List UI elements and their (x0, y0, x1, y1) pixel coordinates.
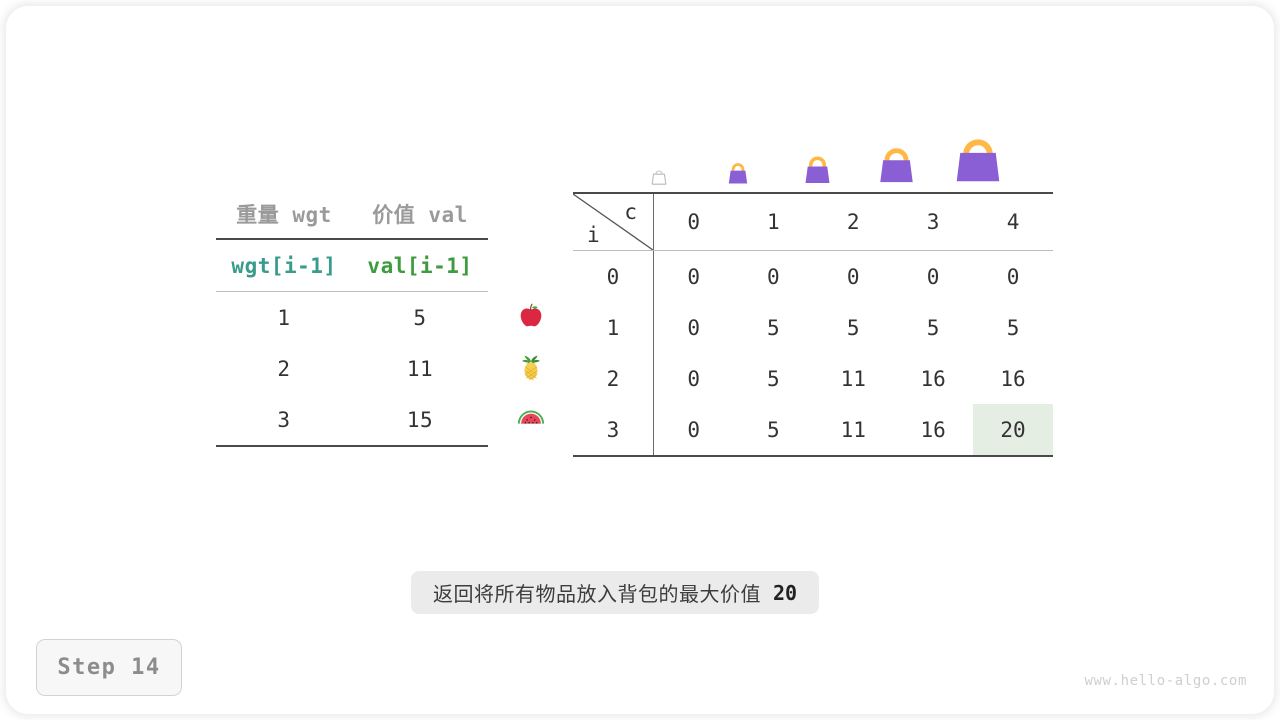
dp-cell-1-1: 5 (733, 302, 813, 353)
table-row: 0 0 0 0 0 0 (573, 251, 1053, 303)
item-wgt-2: 2 (216, 357, 352, 381)
dp-cell-0-4: 0 (973, 251, 1053, 303)
dp-cell-2-1: 5 (733, 353, 813, 404)
bag-icon-empty (648, 166, 670, 190)
item-table: 重量 wgt 价值 val wgt[i-1] val[i-1] 1 5 2 11… (216, 190, 488, 447)
dp-axis-label-i: i (587, 223, 600, 247)
item-wgt-1: 1 (216, 306, 352, 330)
bag-icon-3 (873, 144, 920, 190)
dp-cell-1-4: 5 (973, 302, 1053, 353)
dp-cell-0-2: 0 (813, 251, 893, 303)
apple-icon (506, 296, 556, 347)
step-badge: Step 14 (36, 639, 182, 696)
dp-col-header-3: 3 (893, 193, 973, 251)
item-table-subheader-wgt: wgt[i-1] (216, 254, 352, 278)
fruit-icon-column (506, 296, 556, 449)
item-table-subheader-val: val[i-1] (352, 254, 488, 278)
dp-cell-0-1: 0 (733, 251, 813, 303)
bag-icon-4 (949, 134, 1007, 190)
dp-table: i c 0 1 2 3 4 0 0 0 0 0 0 (573, 192, 1053, 457)
dp-row-header-1: 1 (573, 302, 654, 353)
dp-row-header-2: 2 (573, 353, 654, 404)
dp-axis-label-c: c (624, 200, 637, 224)
dp-corner-cell: i c (573, 193, 654, 251)
dp-cell-3-3: 16 (893, 404, 973, 456)
dp-cell-0-3: 0 (893, 251, 973, 303)
item-val-2: 11 (352, 357, 488, 381)
dp-col-header-1: 1 (733, 193, 813, 251)
dp-cell-2-2: 11 (813, 353, 893, 404)
item-table-header-wgt: 重量 wgt (216, 199, 352, 229)
table-row: 2 11 (216, 343, 488, 394)
pineapple-icon (506, 347, 556, 398)
dp-cell-3-1: 5 (733, 404, 813, 456)
item-wgt-3: 3 (216, 408, 352, 432)
dp-cell-2-3: 16 (893, 353, 973, 404)
item-table-header-val: 价值 val (352, 199, 488, 229)
dp-cell-3-4-highlighted: 20 (973, 404, 1053, 456)
dp-cell-0-0: 0 (654, 251, 734, 303)
caption-text: 返回将所有物品放入背包的最大价值 (433, 578, 761, 607)
dp-col-header-0: 0 (654, 193, 734, 251)
dp-cell-2-4: 16 (973, 353, 1053, 404)
table-row: 1 5 (216, 292, 488, 343)
dp-row-header-3: 3 (573, 404, 654, 456)
dp-cell-3-0: 0 (654, 404, 734, 456)
item-table-header-row: 重量 wgt 价值 val (216, 190, 488, 240)
dp-cell-3-2: 11 (813, 404, 893, 456)
bag-icon-2 (799, 153, 836, 190)
dp-header-row: i c 0 1 2 3 4 (573, 193, 1053, 251)
dp-col-header-2: 2 (813, 193, 893, 251)
dp-cell-1-3: 5 (893, 302, 973, 353)
bag-icon-1 (723, 159, 753, 190)
bag-icon-row (573, 126, 1053, 190)
table-row: 3 15 (216, 394, 488, 447)
watermelon-icon (506, 398, 556, 449)
dp-cell-1-0: 0 (654, 302, 734, 353)
table-row: 3 0 5 11 16 20 (573, 404, 1053, 456)
dp-col-header-4: 4 (973, 193, 1053, 251)
table-row: 1 0 5 5 5 5 (573, 302, 1053, 353)
diagram-canvas: 重量 wgt 价值 val wgt[i-1] val[i-1] 1 5 2 11… (0, 0, 1280, 720)
step-badge-label: Step 14 (57, 655, 160, 680)
watermark: www.hello-algo.com (1084, 673, 1247, 689)
dp-row-header-0: 0 (573, 251, 654, 303)
item-val-1: 5 (352, 306, 488, 330)
item-val-3: 15 (352, 408, 488, 432)
caption-value: 20 (773, 581, 797, 605)
caption-banner: 返回将所有物品放入背包的最大价值 20 (411, 571, 819, 614)
item-table-subheader-row: wgt[i-1] val[i-1] (216, 240, 488, 292)
dp-cell-2-0: 0 (654, 353, 734, 404)
dp-cell-1-2: 5 (813, 302, 893, 353)
table-row: 2 0 5 11 16 16 (573, 353, 1053, 404)
